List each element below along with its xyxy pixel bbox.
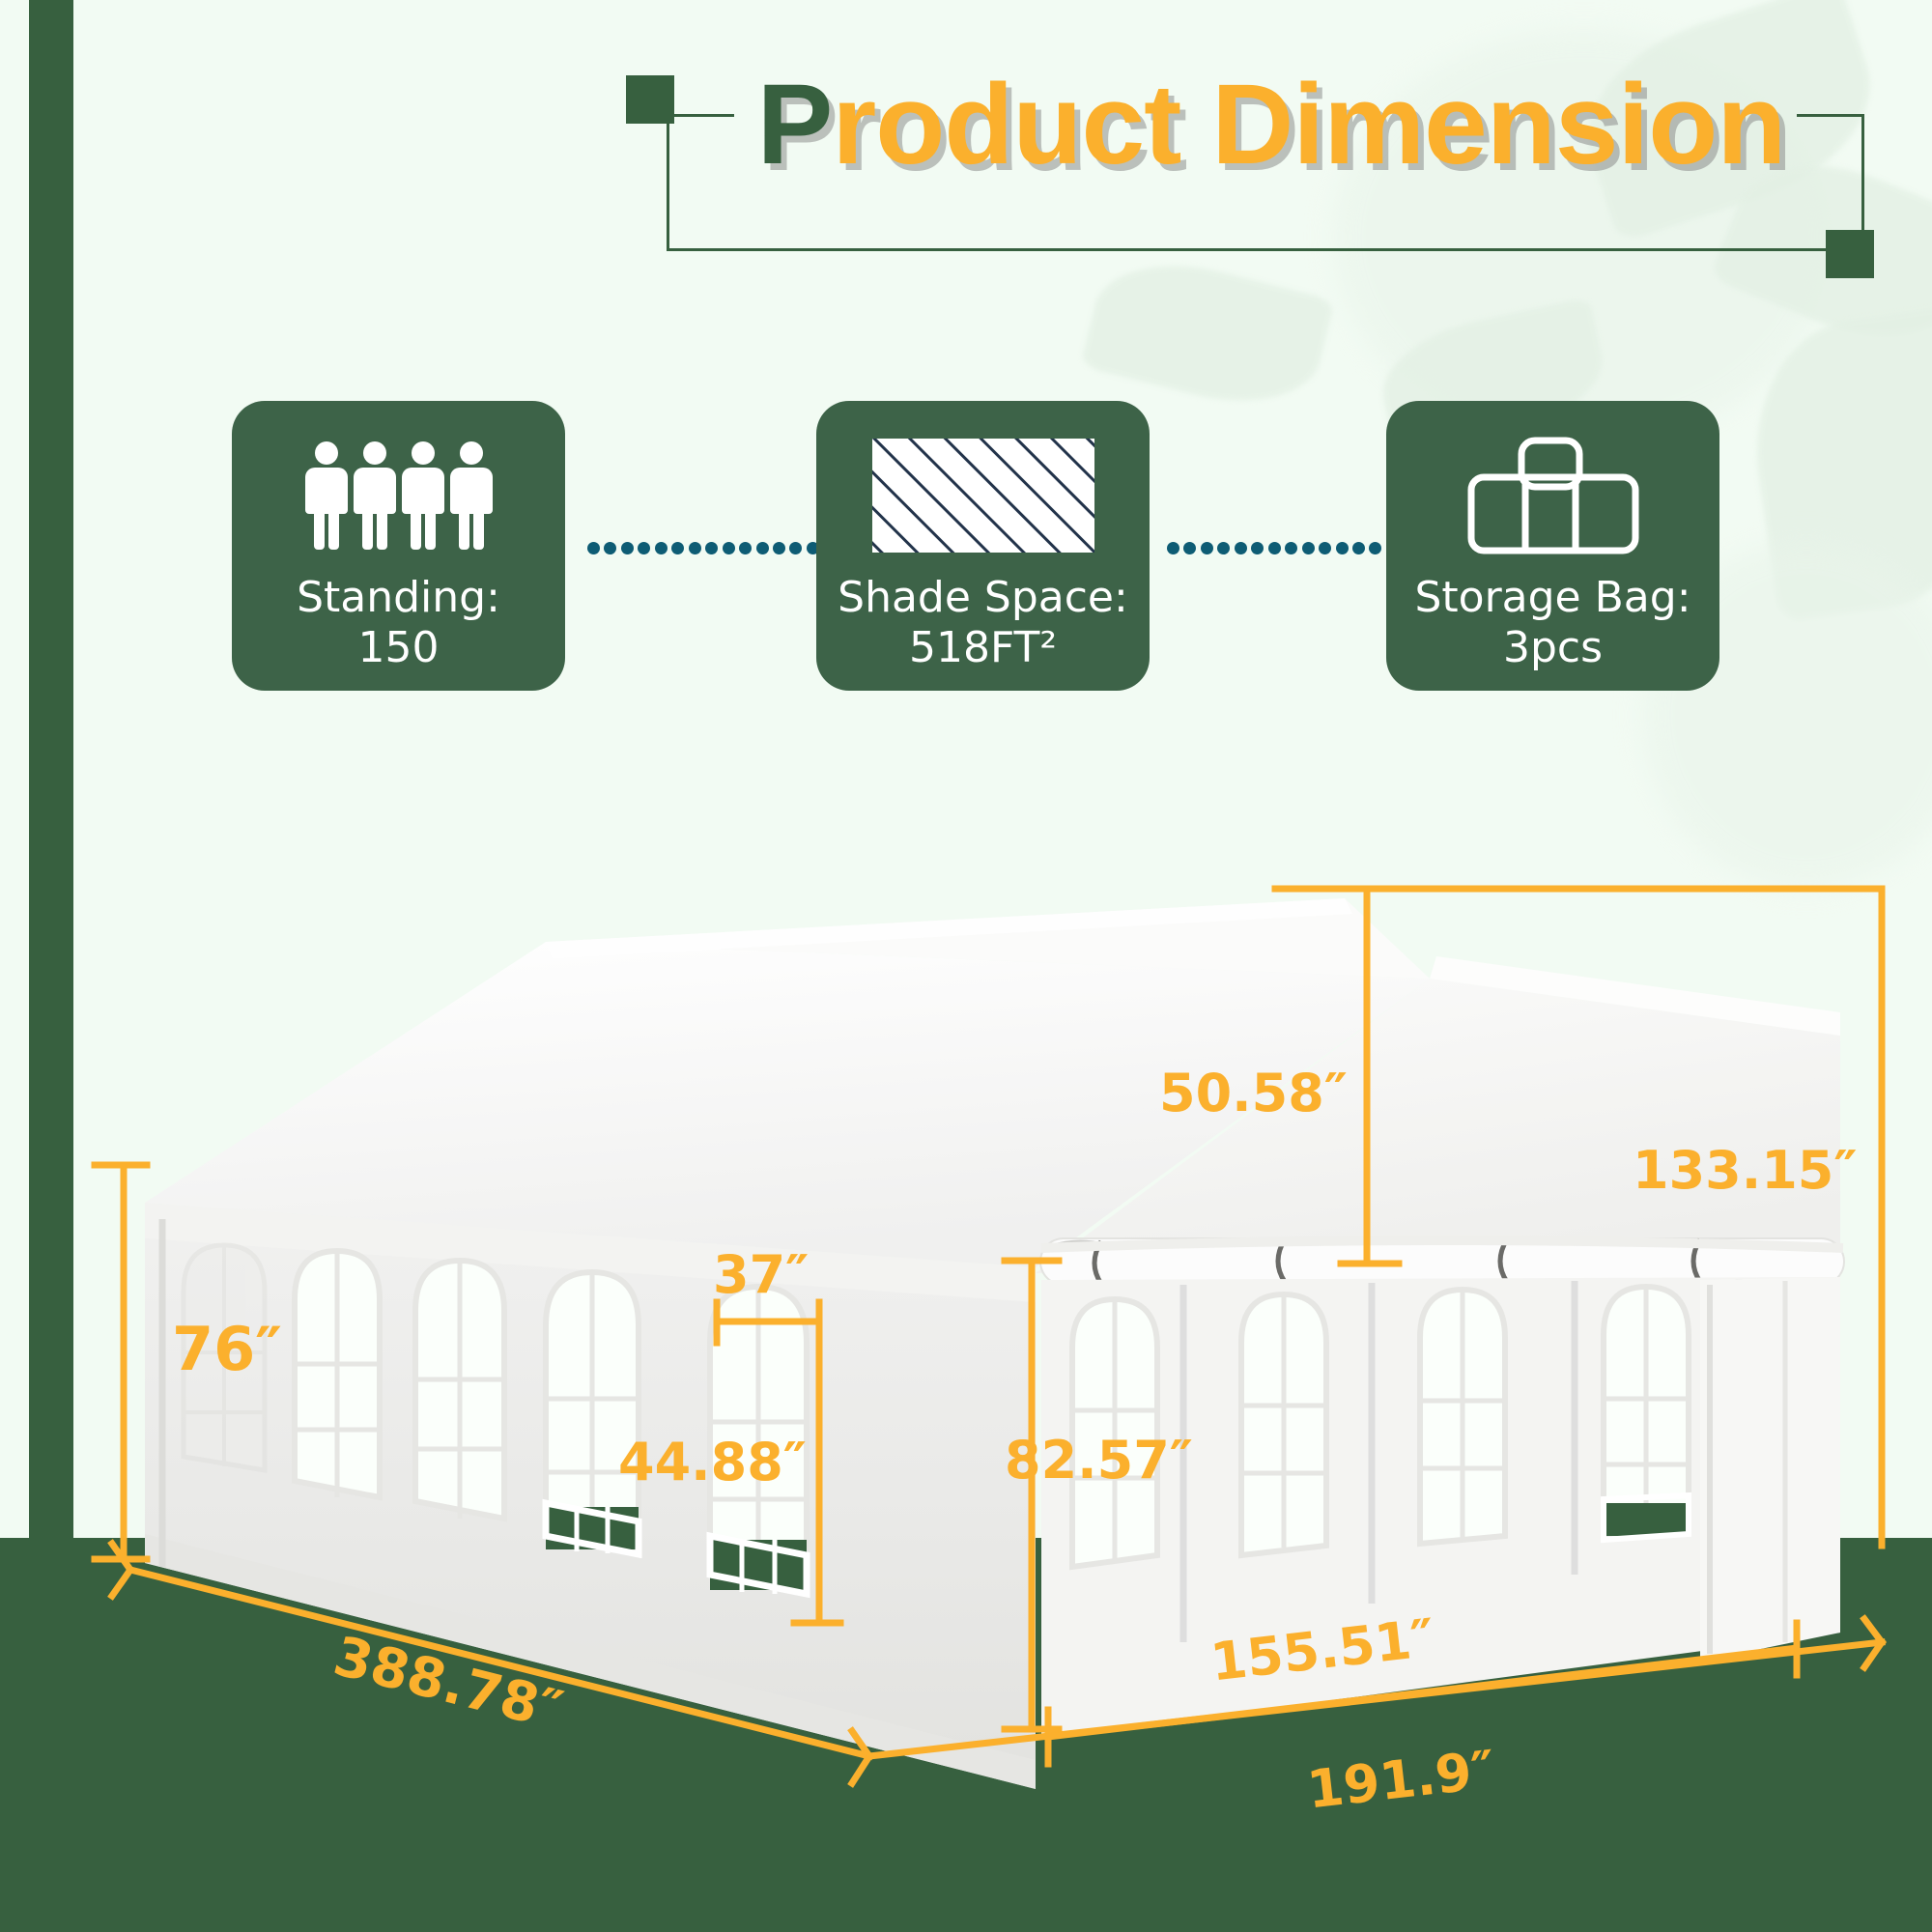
dimension-label-window-width: 37″: [713, 1244, 809, 1305]
window: [1420, 1290, 1505, 1544]
window: [1604, 1287, 1689, 1540]
window: [295, 1251, 380, 1497]
dimension-label-sidewall-height: 76″: [172, 1314, 282, 1384]
window: [546, 1272, 639, 1554]
dimension-label-window-height: 44.88″: [618, 1432, 807, 1492]
tent-illustration: [0, 0, 1932, 1932]
dimension-label-door-opening-height: 82.57″: [1005, 1430, 1193, 1491]
window: [1241, 1294, 1326, 1555]
dimension-label-roof-peak-rise: 50.58″: [1159, 1063, 1348, 1123]
dimension-label-overall-peak-height: 133.15″: [1633, 1140, 1858, 1201]
infographic-canvas: Product Dimension Standing: 150: [0, 0, 1932, 1932]
window: [415, 1261, 504, 1519]
door-header-beam: [1041, 1239, 1843, 1284]
